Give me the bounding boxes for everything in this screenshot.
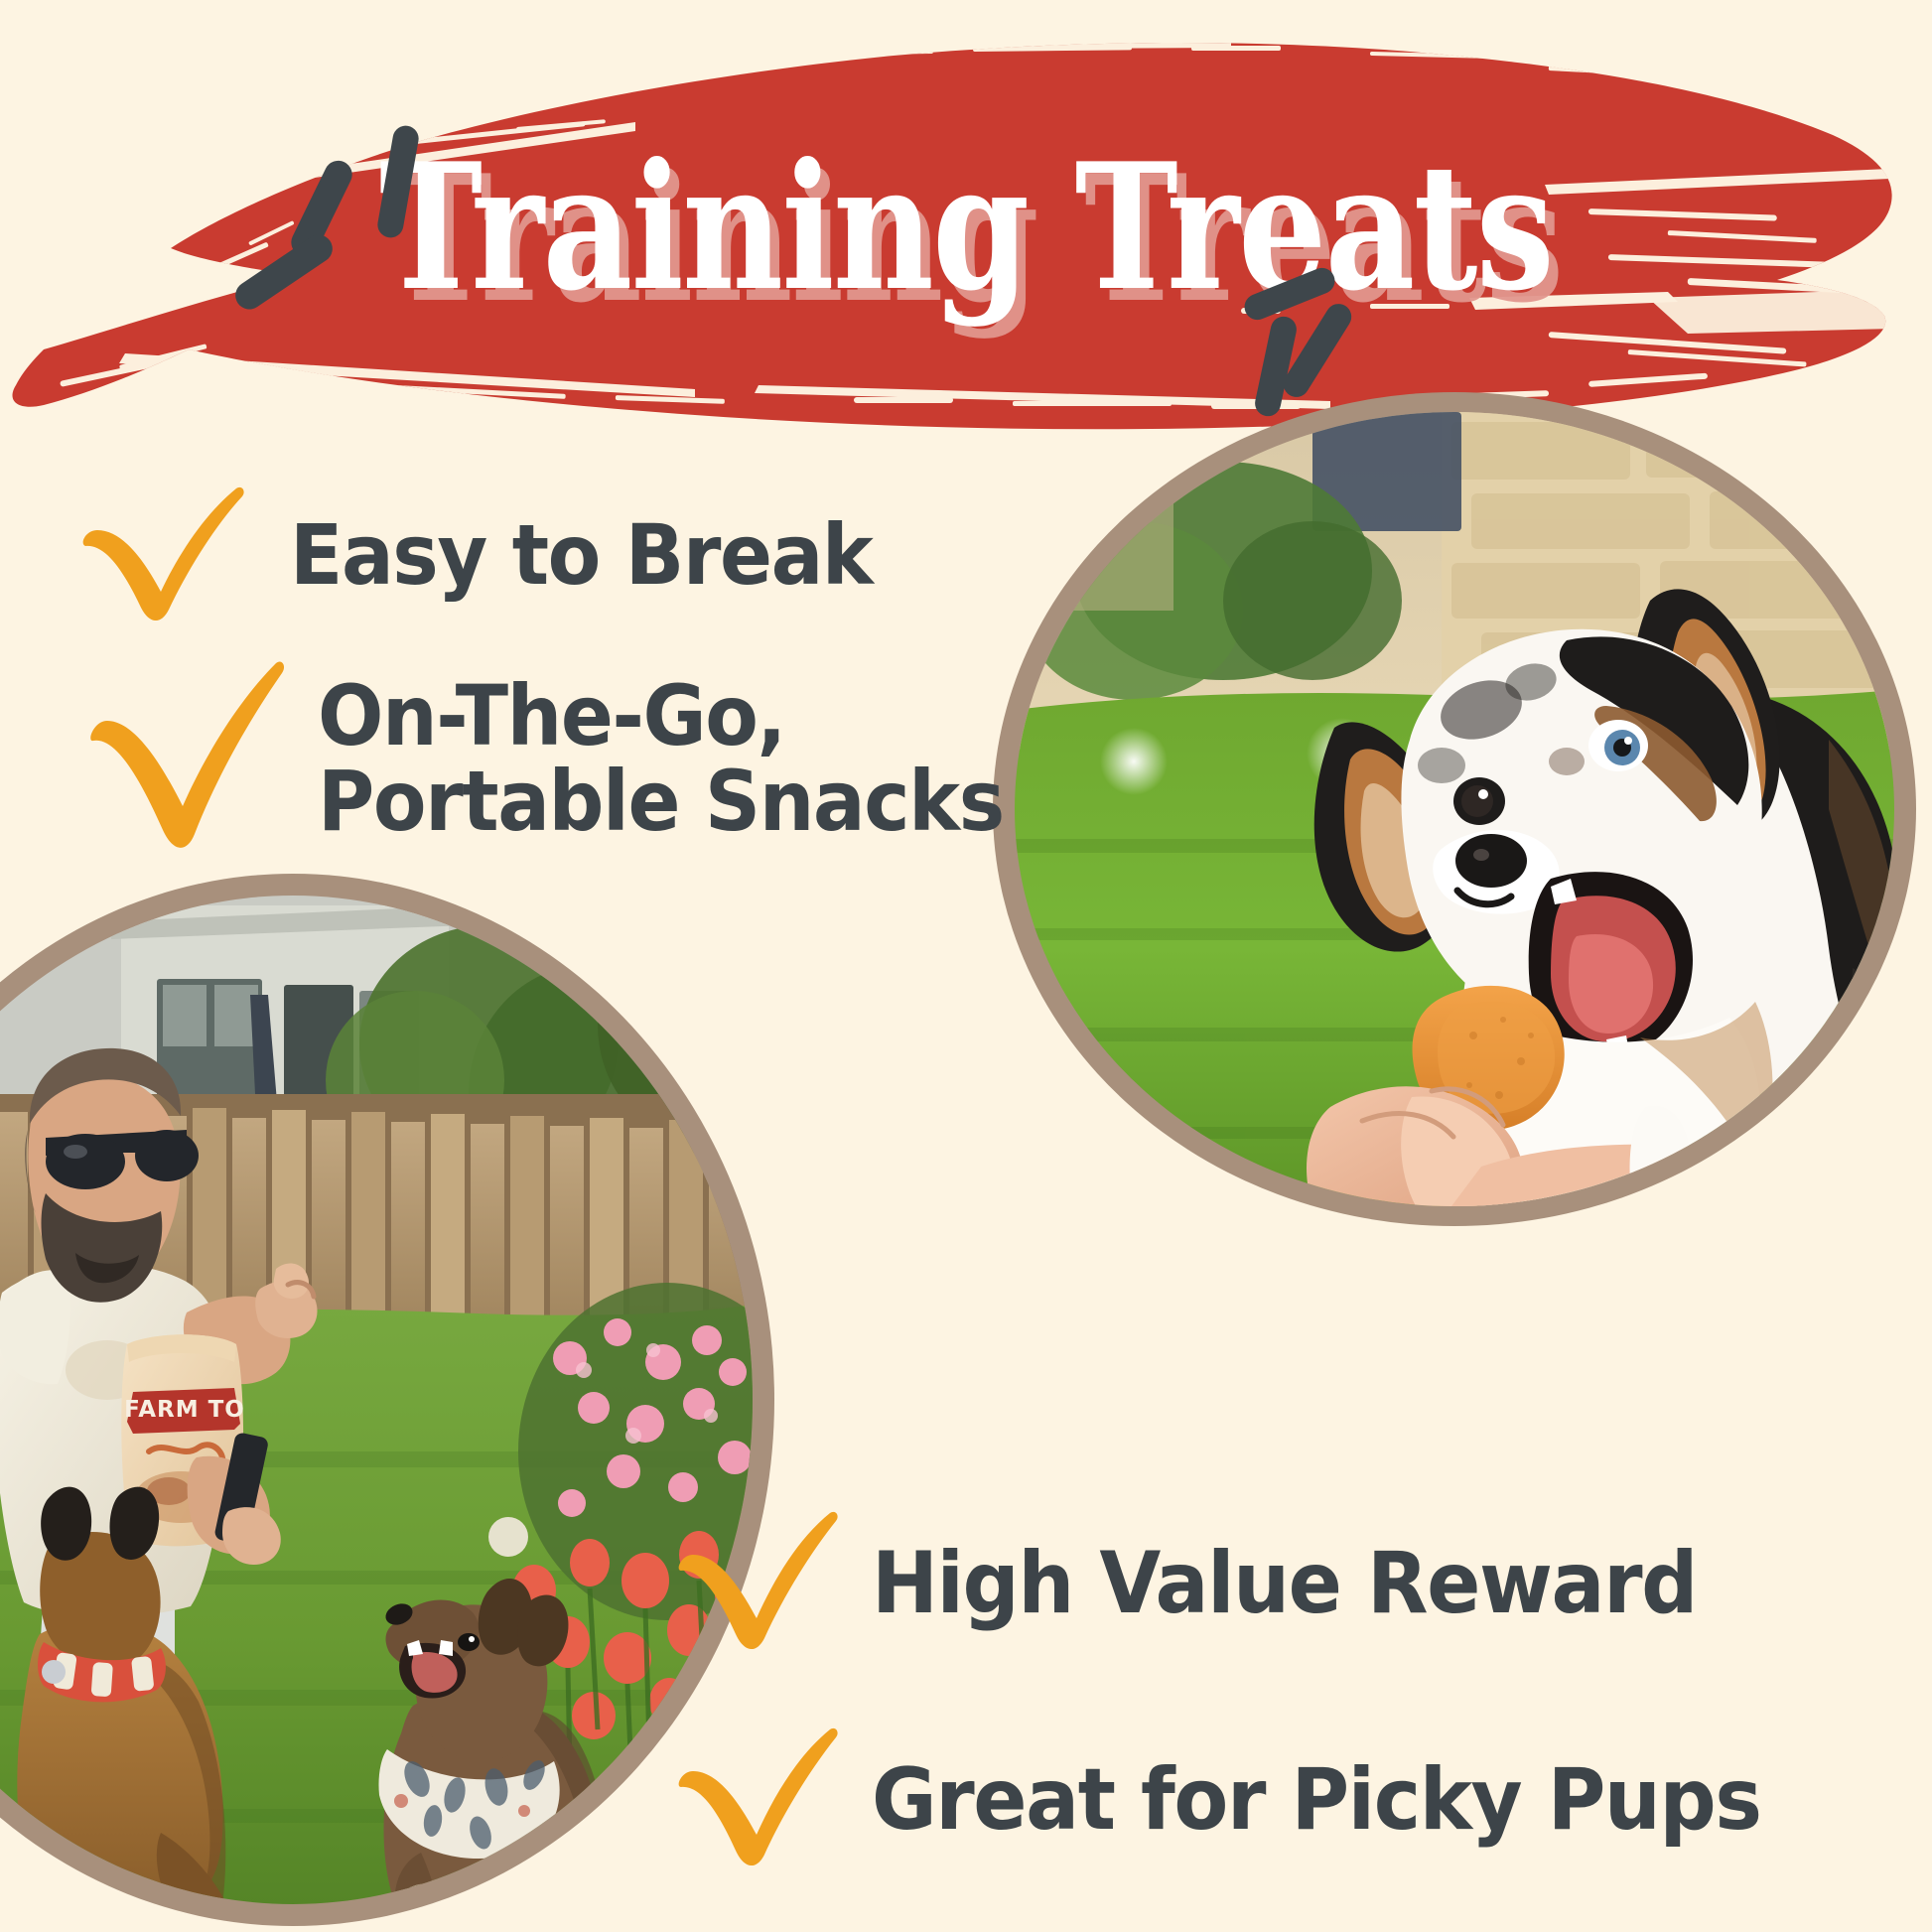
checkmark-icon xyxy=(671,1509,846,1660)
photo-man-training-dogs: FARM TO xyxy=(0,874,774,1926)
benefit-great-for-picky-pups: Great for Picky Pups xyxy=(671,1725,1828,1876)
photo-man-training-dogs-image: FARM TO xyxy=(0,896,753,1904)
benefit-high-value-reward: High Value Reward xyxy=(671,1509,1759,1660)
benefit-easy-to-break: Easy to Break xyxy=(75,483,916,629)
svg-text:FARM TO: FARM TO xyxy=(124,1397,245,1423)
photo-dog-catching-treat xyxy=(993,392,1916,1226)
promo-graphic: Training Treats xyxy=(0,0,1932,1932)
benefit-easy-to-break-text: Easy to Break xyxy=(290,513,872,599)
benefit-high-value-reward-text: High Value Reward xyxy=(872,1541,1697,1628)
benefit-on-the-go-portable-snacks-text: On-The-Go, Portable Snacks xyxy=(318,674,1004,844)
photo-dog-catching-treat-image xyxy=(1015,412,1894,1206)
checkmark-icon xyxy=(83,655,292,864)
checkmark-icon xyxy=(671,1725,846,1876)
checkmark-icon xyxy=(75,483,252,629)
benefit-great-for-picky-pups-text: Great for Picky Pups xyxy=(872,1757,1761,1845)
benefit-on-the-go-portable-snacks: On-The-Go, Portable Snacks xyxy=(83,655,1055,864)
page-title: Training Treats xyxy=(194,141,1739,315)
